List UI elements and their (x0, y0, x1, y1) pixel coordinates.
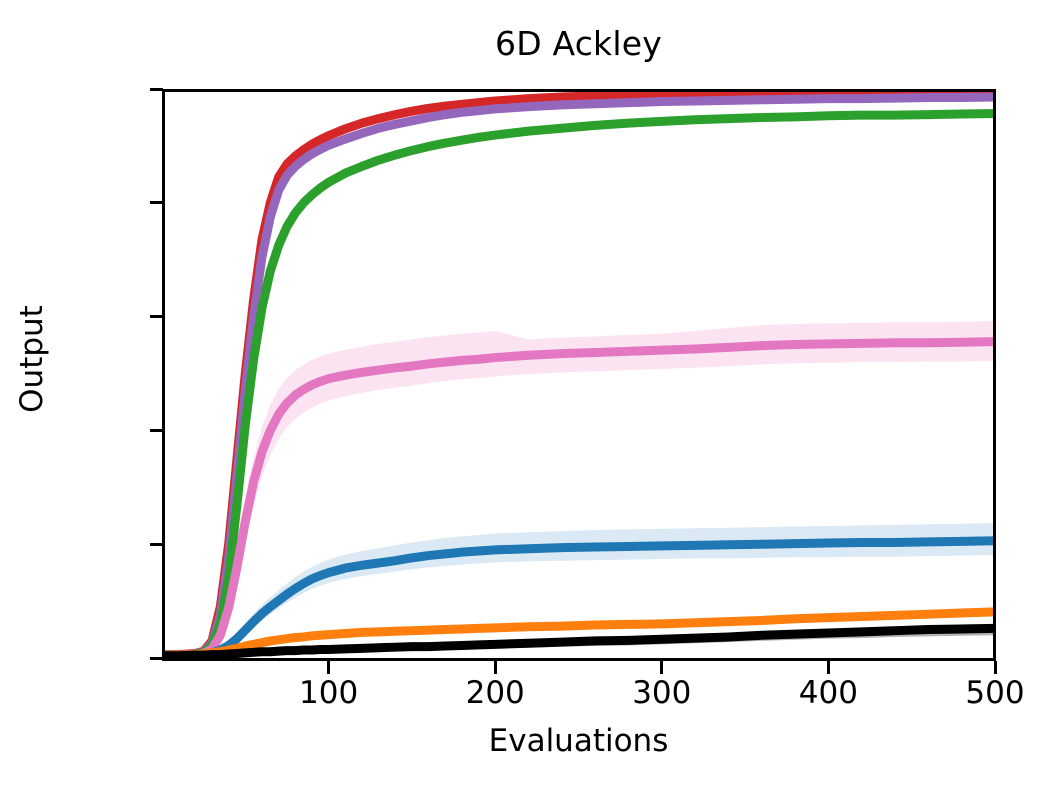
plot-area (162, 89, 995, 658)
y-tick-mark (150, 657, 163, 660)
y-tick-mark (150, 429, 163, 432)
x-tick-mark (827, 661, 830, 674)
x-tick-mark (494, 661, 497, 674)
chart-figure: 6D Ackley 0.00.20.40.60.81.0 10020030040… (0, 0, 1062, 797)
axis-spine-left (162, 89, 165, 661)
plot-canvas (162, 89, 995, 658)
axis-spine-top (162, 89, 996, 92)
confidence-band-magenta (162, 321, 995, 657)
y-tick-mark (150, 315, 163, 318)
x-tick-mark (327, 661, 330, 674)
x-tick-label: 100 (299, 678, 358, 709)
chart-title: 6D Ackley (162, 22, 995, 66)
y-tick-mark (150, 88, 163, 91)
x-tick-label: 200 (466, 678, 525, 709)
x-axis-label: Evaluations (162, 722, 995, 760)
axis-spine-bottom (162, 658, 996, 661)
x-tick-mark (660, 661, 663, 674)
x-tick-label: 500 (965, 678, 1024, 709)
x-tick-label: 400 (799, 678, 858, 709)
series-lines (162, 91, 995, 657)
x-tick-label: 300 (632, 678, 691, 709)
y-axis-label: Output (13, 289, 51, 429)
axis-spine-right (993, 89, 996, 661)
series-line-purple (162, 97, 995, 656)
y-tick-mark (150, 201, 163, 204)
x-tick-mark (994, 661, 997, 674)
y-tick-mark (150, 543, 163, 546)
